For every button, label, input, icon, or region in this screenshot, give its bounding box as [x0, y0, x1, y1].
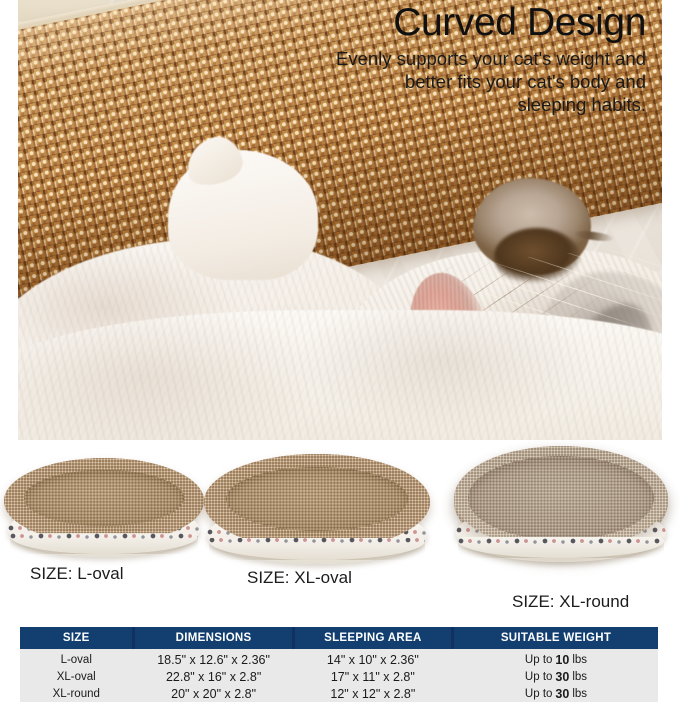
hero-subtitle-line-3: sleeping habits. — [206, 93, 646, 116]
header-sleeping-area: SLEEPING AREA — [295, 627, 451, 649]
cell-dimensions: 20" x 20" x 2.8" — [135, 685, 291, 702]
weight-value: 30 — [555, 670, 569, 684]
cell-dimensions: 22.8" x 16" x 2.8" — [135, 668, 291, 685]
spec-table-body: L-oval 18.5" x 12.6" x 2.36" 14" x 10" x… — [20, 649, 658, 702]
table-row: L-oval 18.5" x 12.6" x 2.36" 14" x 10" x… — [20, 651, 658, 668]
hero-subtitle-line-2: better fits your cat's body and — [206, 70, 646, 93]
hero-title: Curved Design — [206, 2, 646, 44]
cell-dimensions: 18.5" x 12.6" x 2.36" — [135, 651, 291, 668]
header-dimensions: DIMENSIONS — [135, 627, 291, 649]
weight-value: 10 — [555, 653, 569, 667]
xl-round-sleeping-area-front — [468, 456, 654, 540]
header-size: SIZE — [20, 627, 132, 649]
cell-size: L-oval — [20, 651, 132, 668]
header-suitable-weight: SUITABLE WEIGHT — [454, 627, 658, 649]
weight-unit: lbs — [572, 688, 587, 700]
weight-prefix: Up to — [525, 671, 553, 683]
cell-sleeping-area: 17" x 11" x 2.8" — [295, 668, 451, 685]
cell-size: XL-oval — [20, 668, 132, 685]
product-size-row: SIZE: L-oval SIZE: XL-oval — [0, 440, 679, 625]
xl-round-basket[interactable] — [448, 442, 676, 574]
l-oval-size-label: SIZE: L-oval — [30, 564, 124, 584]
cat-fur-foreground — [18, 310, 662, 440]
xl-oval-basket-front — [204, 454, 430, 550]
xl-oval-sleeping-area-front — [226, 467, 408, 531]
cell-suitable-weight: Up to 10 lbs — [454, 651, 658, 668]
cell-sleeping-area: 12" x 12" x 2.8" — [295, 685, 451, 702]
product-infographic: Curved Design Evenly supports your cat's… — [0, 0, 679, 711]
hero-photo: Curved Design Evenly supports your cat's… — [18, 0, 662, 440]
spec-table: SIZE DIMENSIONS SLEEPING AREA SUITABLE W… — [20, 627, 658, 709]
weight-unit: lbs — [572, 671, 587, 683]
weight-prefix: Up to — [525, 688, 553, 700]
cell-size: XL-round — [20, 685, 132, 702]
weight-value: 30 — [555, 687, 569, 701]
hero-text-block: Curved Design Evenly supports your cat's… — [206, 2, 646, 116]
l-oval-basket[interactable] — [4, 458, 204, 563]
xl-oval-basket[interactable] — [204, 454, 430, 566]
spec-table-header-row: SIZE DIMENSIONS SLEEPING AREA SUITABLE W… — [20, 627, 658, 649]
l-oval-basket-front — [4, 458, 204, 544]
cell-sleeping-area: 14" x 10" x 2.36" — [295, 651, 451, 668]
cell-suitable-weight: Up to 30 lbs — [454, 685, 658, 702]
cell-suitable-weight: Up to 30 lbs — [454, 668, 658, 685]
weight-prefix: Up to — [525, 654, 553, 666]
xl-oval-size-label: SIZE: XL-oval — [247, 568, 352, 588]
weight-unit: lbs — [572, 654, 587, 666]
hero-subtitle-line-1: Evenly supports your cat's weight and — [206, 47, 646, 70]
table-row: XL-oval 22.8" x 16" x 2.8" 17" x 11" x 2… — [20, 668, 658, 685]
xl-round-size-label: SIZE: XL-round — [512, 592, 629, 612]
table-row: XL-round 20" x 20" x 2.8" 12" x 12" x 2.… — [20, 685, 658, 702]
l-oval-sleeping-area-front — [24, 470, 184, 526]
